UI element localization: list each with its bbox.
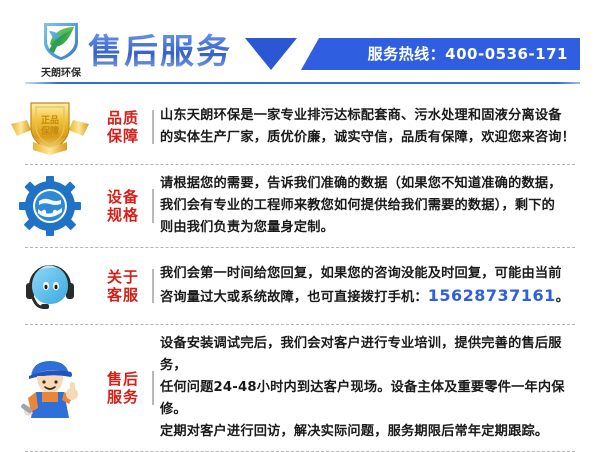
section-text-aftersales: 设备安装调试完后，我们会对客户进行专业培训，提供完善的售后服务， 任何问题24-… bbox=[160, 333, 600, 443]
label-divider bbox=[146, 110, 160, 144]
worker-thumbs-up-svg bbox=[15, 354, 85, 422]
label-line-2: 客服 bbox=[100, 286, 146, 304]
paragraph-text: 咨询量过大或系统故障，也可直接拨打手机： bbox=[160, 290, 428, 305]
label-line-1: 关于 bbox=[107, 268, 139, 286]
section-text-service: 我们会第一时间给您回复，如果您的咨询没能及时回复，可能由当前 咨询量过大或系统故… bbox=[160, 263, 600, 309]
paragraph-line: 山东天朗环保是一家专业排污达标配套商、污水处理和固液分离设备 bbox=[160, 105, 582, 127]
svg-text:保障: 保障 bbox=[40, 125, 59, 137]
section-quality-guarantee: 正品 保障 品质 保障 山东天朗环保是一家专业排污达标配套商、污水处理和固液分离… bbox=[0, 90, 600, 164]
gold-shield-badge-svg: 正品 保障 bbox=[9, 98, 91, 156]
label-line-1: 设备 bbox=[107, 188, 139, 206]
header-divider bbox=[25, 82, 580, 84]
paragraph-line: 我们会第一时间给您回复，如果您的咨询没能及时回复，可能由当前 bbox=[160, 263, 582, 285]
hotline-banner: 服务热线：400-0536-171 bbox=[245, 38, 580, 70]
paragraph-line: 定期对客户进行回访，解决实际问题，服务期限后常年定期跟踪。 bbox=[160, 421, 582, 443]
paragraph-suffix: 。 bbox=[556, 290, 569, 305]
section-label-service: 关于 客服 bbox=[100, 268, 146, 304]
service-sections: 正品 保障 品质 保障 山东天朗环保是一家专业排污达标配套商、污水处理和固液分离… bbox=[0, 90, 600, 452]
page-title: 售后服务 bbox=[88, 30, 232, 74]
paragraph-line: 请根据您的需要，告诉我们准确的数据（如果您不知道准确的数据， bbox=[160, 173, 582, 195]
page-header: 天朗环保 售后服务 服务热线：400-0536-171 bbox=[0, 0, 600, 80]
paragraph-line: 则由我们负责为您量身定制。 bbox=[160, 217, 582, 239]
tianlang-huanbao-logo: 天朗环保 bbox=[25, 20, 97, 78]
label-divider bbox=[146, 371, 160, 405]
logo-shield-svg bbox=[38, 20, 84, 62]
after-sales-service-page: 天朗环保 售后服务 服务热线：400-0536-171 bbox=[0, 0, 600, 450]
worker-thumbs-up-icon bbox=[0, 354, 100, 422]
hotline-banner-bar: 服务热线：400-0536-171 bbox=[301, 38, 580, 70]
label-line-2: 规格 bbox=[100, 206, 146, 224]
paragraph-line-with-phone: 咨询量过大或系统故障，也可直接拨打手机：15628737161。 bbox=[160, 285, 582, 309]
blue-gear-globe-svg bbox=[19, 176, 81, 236]
logo-text: 天朗环保 bbox=[25, 68, 97, 79]
chevron-down-icon bbox=[245, 38, 297, 70]
hotline-text: 服务热线：400-0536-171 bbox=[368, 38, 568, 70]
section-equipment-spec: 设备 规格 请根据您的需要，告诉我们准确的数据（如果您不知道准确的数据， 我们会… bbox=[0, 165, 600, 247]
section-customer-service: 关于 客服 我们会第一时间给您回复，如果您的咨询没能及时回复，可能由当前 咨询量… bbox=[0, 248, 600, 324]
logo-shield-icon bbox=[38, 20, 84, 62]
label-line-2: 保障 bbox=[100, 127, 146, 145]
headset-penguin-svg bbox=[17, 256, 83, 316]
label-line-2: 服务 bbox=[100, 388, 146, 406]
label-line-1: 品质 bbox=[107, 109, 139, 127]
mobile-phone-number[interactable]: 15628737161 bbox=[428, 286, 556, 305]
paragraph-line: 任何问题24-48小时内到达客户现场。设备主体及重要零件一年内保修。 bbox=[160, 377, 582, 421]
blue-gear-globe-icon bbox=[0, 176, 100, 236]
headset-penguin-support-icon bbox=[0, 256, 100, 316]
svg-text:正品: 正品 bbox=[41, 115, 59, 126]
section-after-sales: 售后 服务 设备安装调试完后，我们会对客户进行专业培训，提供完善的售后服务， 任… bbox=[0, 325, 600, 451]
section-text-quality: 山东天朗环保是一家专业排污达标配套商、污水处理和固液分离设备 的实体生产厂家，质… bbox=[160, 105, 600, 149]
section-label-spec: 设备 规格 bbox=[100, 188, 146, 224]
section-label-aftersales: 售后 服务 bbox=[100, 370, 146, 406]
paragraph-line: 设备安装调试完后，我们会对客户进行专业培训，提供完善的售后服务， bbox=[160, 333, 582, 377]
gold-shield-badge-icon: 正品 保障 bbox=[0, 98, 100, 156]
section-text-spec: 请根据您的需要，告诉我们准确的数据（如果您不知道准确的数据， 我们会有专业的工程… bbox=[160, 173, 600, 239]
paragraph-line: 我们会有专业的工程师来教您如何提供给我们需要的数据），剩下的 bbox=[160, 195, 582, 217]
label-line-1: 售后 bbox=[107, 370, 139, 388]
paragraph-line: 的实体生产厂家，质优价廉，诚实守信，品质有保障，欢迎您来咨询！ bbox=[160, 127, 582, 149]
label-divider bbox=[146, 269, 160, 303]
label-divider bbox=[146, 189, 160, 223]
section-label-quality: 品质 保障 bbox=[100, 109, 146, 145]
